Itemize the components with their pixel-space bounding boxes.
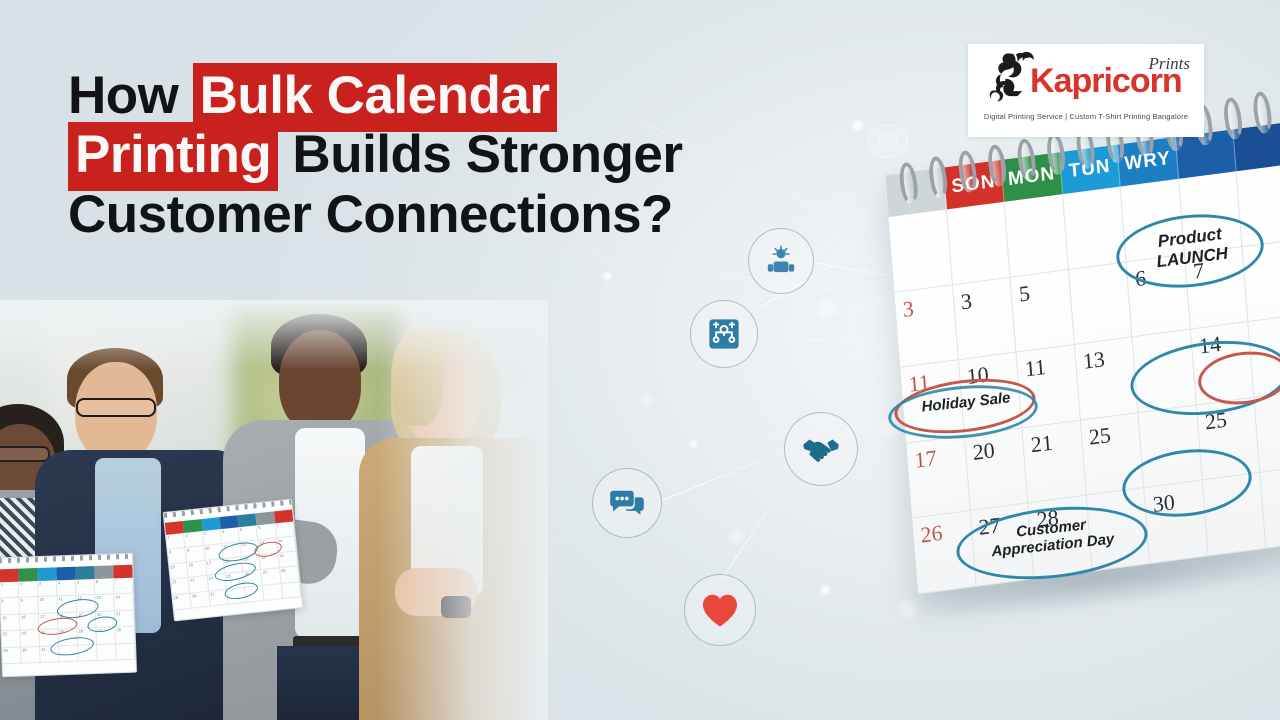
- logo-suffix: Prints: [1148, 54, 1190, 74]
- brand-logo[interactable]: Kapricorn Prints Digital Printing Servic…: [968, 44, 1204, 137]
- connector-line: [662, 451, 785, 502]
- handshake-icon[interactable]: [784, 412, 858, 486]
- network-puzzle-icon[interactable]: [690, 300, 758, 368]
- headline-highlight-2: Printing: [68, 122, 278, 191]
- page-title: How Bulk Calendar Printing Builds Strong…: [68, 66, 788, 244]
- headline-plain-2: Builds Stronger: [278, 125, 682, 184]
- marketing-banner: 1234567 891011121314 15161718192021 2223…: [0, 0, 1280, 720]
- calendar-date-grid: 33567 1110111314 1720212525 26272830: [889, 164, 1280, 595]
- wall-calendar: SON MON TUN WRY 33567 1110111314 1720212…: [880, 120, 1280, 620]
- logo-initial: K: [1030, 62, 1054, 100]
- eyeglasses-icon: [76, 398, 156, 417]
- chat-bubbles-icon[interactable]: [592, 468, 662, 538]
- headline-line-3: Customer Connections?: [68, 185, 788, 244]
- headline-line-1: How Bulk Calendar: [68, 66, 788, 125]
- logo-tagline: Digital Printing Service | Custom T-Shir…: [968, 112, 1204, 121]
- headline-plain-1: How: [68, 66, 193, 125]
- idea-person-icon[interactable]: [748, 228, 814, 294]
- headline-line-2: Printing Builds Stronger: [68, 125, 788, 184]
- connector-line: [721, 487, 784, 579]
- held-desk-calendar-right: 1234567 891011121314 15161718192021 2223…: [163, 499, 304, 622]
- heart-icon[interactable]: [684, 574, 756, 646]
- held-desk-calendar-left: 1234567 891011121314 15161718192021 2223…: [0, 553, 137, 678]
